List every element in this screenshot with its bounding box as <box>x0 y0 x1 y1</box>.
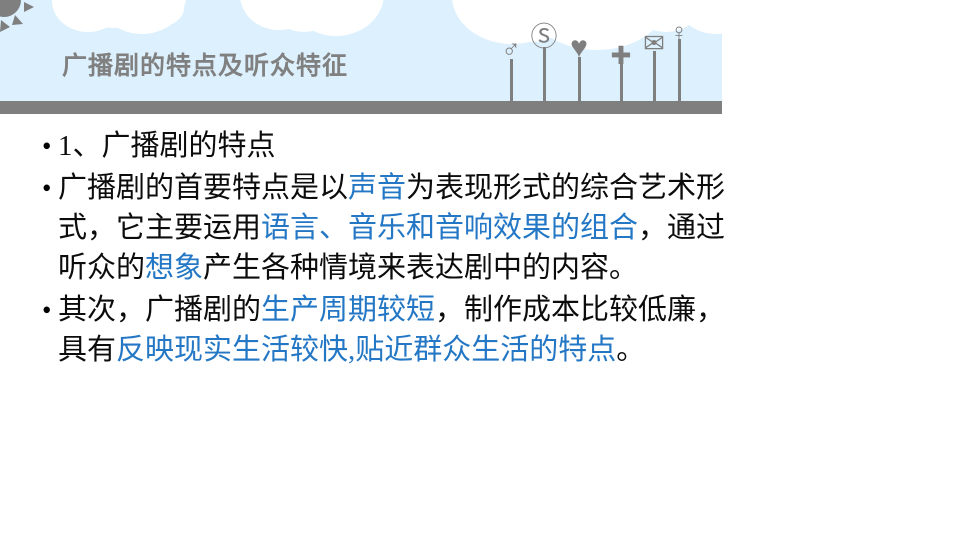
list-item: • 广播剧的首要特点是以声音为表现形式的综合艺术形式，它主要运用语言、音乐和音响… <box>36 168 736 288</box>
text-run: 1、广播剧的特点 <box>58 130 276 162</box>
bullet-marker: • <box>36 290 58 330</box>
slide-root: ♂ Ⓢ ♥ ✚ ✉ ♀ 广播剧的特点及听众特征 • <box>0 0 960 540</box>
cross-plus-icon: ✚ <box>611 44 632 69</box>
text-run-highlight: 语言、音乐和音响效果的组合 <box>261 212 638 244</box>
male-symbol-icon: ♂ <box>501 37 521 63</box>
coin-dollar-icon: Ⓢ <box>531 24 558 51</box>
bullet-text: 其次，广播剧的生产周期较短，制作成本比较低廉，具有反映现实生活较快,贴近群众生活… <box>58 290 736 370</box>
page-title: 广播剧的特点及听众特征 <box>62 46 348 82</box>
list-item: • 1、广播剧的特点 <box>36 126 736 166</box>
text-run-highlight: 想象 <box>145 252 203 284</box>
text-run-highlight: 生产周期较短 <box>261 294 435 326</box>
bullet-text: 1、广播剧的特点 <box>58 126 736 166</box>
text-run: 其次，广播剧的 <box>58 294 261 326</box>
ground-bar <box>0 101 722 114</box>
text-run-highlight: 反映现实生活较快,贴近群众生活的特点 <box>116 334 616 366</box>
envelope-icon: ✉ <box>643 31 665 57</box>
text-run: 产生各种情境来表达剧中的内容。 <box>203 252 638 284</box>
body-content: • 1、广播剧的特点 • 广播剧的首要特点是以声音为表现形式的综合艺术形式，它主… <box>36 126 736 372</box>
text-run: 。 <box>616 334 645 366</box>
heart-icon: ♥ <box>570 33 588 63</box>
text-run-highlight: 声音 <box>348 172 406 204</box>
bullet-text: 广播剧的首要特点是以声音为表现形式的综合艺术形式，它主要运用语言、音乐和音响效果… <box>58 168 736 288</box>
list-item: • 其次，广播剧的生产周期较短，制作成本比较低廉，具有反映现实生活较快,贴近群众… <box>36 290 736 370</box>
text-run: 广播剧的首要特点是以 <box>58 172 348 204</box>
bullet-marker: • <box>36 126 58 166</box>
sun-icon <box>0 0 34 32</box>
female-symbol-icon: ♀ <box>670 21 688 45</box>
bullet-marker: • <box>36 168 58 208</box>
